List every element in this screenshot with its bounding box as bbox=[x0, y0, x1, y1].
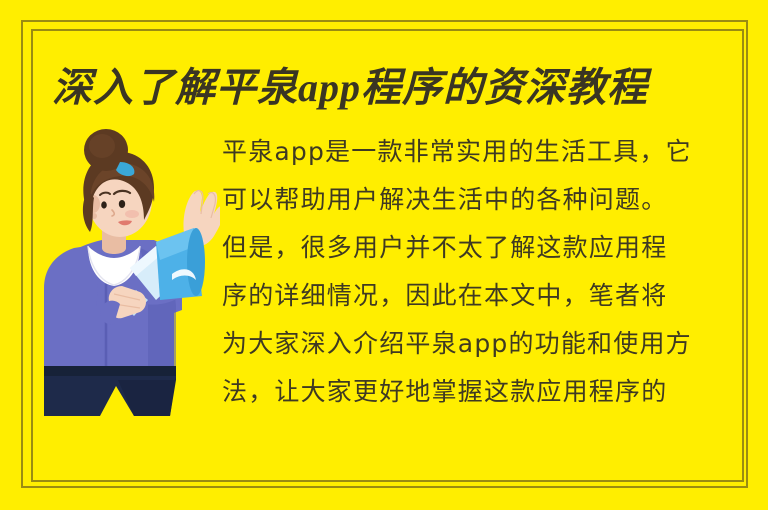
page-title: 深入了解平泉app程序的资深教程 bbox=[52, 60, 692, 116]
body-copy: 平泉app是一款非常实用的生活工具，它 可以帮助用户解决生活中的各种问题。 但是… bbox=[222, 128, 737, 416]
body-line: 但是，很多用户并不太了解这款应用程 bbox=[222, 224, 737, 272]
body-line: 为大家深入介绍平泉app的功能和使用方 bbox=[222, 320, 737, 368]
body-line: 平泉app是一款非常实用的生活工具，它 bbox=[222, 128, 737, 176]
eye-right bbox=[119, 200, 125, 208]
body-line: 法，让大家更好地掌握这款应用程序的 bbox=[222, 368, 737, 416]
body-line: 序的详细情况，因此在本文中，笔者将 bbox=[222, 272, 737, 320]
megaphone-cone-rim bbox=[187, 228, 205, 296]
woman-with-megaphone-illustration bbox=[44, 128, 220, 418]
body-line: 可以帮助用户解决生活中的各种问题。 bbox=[222, 176, 737, 224]
eye-left bbox=[101, 201, 107, 208]
pants-shadow bbox=[118, 380, 176, 416]
hair-bun-highlight bbox=[89, 134, 115, 158]
blush bbox=[125, 210, 139, 218]
poster-canvas: 深入了解平泉app程序的资深教程 bbox=[0, 0, 768, 510]
